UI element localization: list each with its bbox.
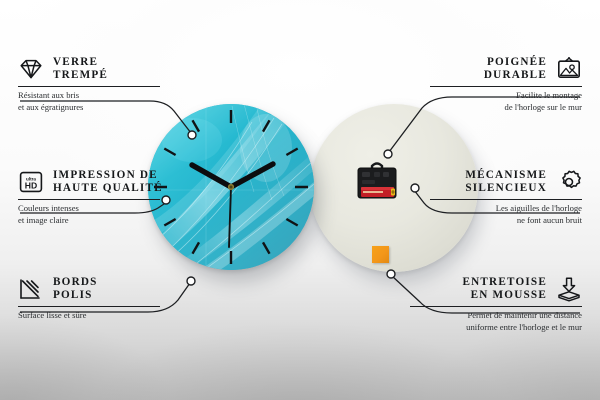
feature-rule — [430, 86, 582, 87]
feature-mecanisme-silencieux[interactable]: MÉCANISME SILENCIEUX Les aiguilles de l'… — [432, 169, 582, 227]
feature-impression-haute-qualite[interactable]: ultra HD IMPRESSION DE HAUTE QUALITÉ Cou… — [18, 169, 158, 227]
feature-rule — [430, 199, 582, 200]
feature-title-line2: EN MOUSSE — [462, 289, 547, 302]
feature-desc-line1: Facilite le montage — [432, 90, 582, 102]
feature-title-line1: BORDS — [53, 276, 98, 289]
feature-poignee-durable[interactable]: POIGNÉE DURABLE Facilite le montage de l… — [432, 56, 582, 114]
feature-rule — [18, 199, 160, 200]
feature-title-line1: POIGNÉE — [484, 56, 547, 69]
feature-title-line1: VERRE — [53, 56, 108, 69]
feature-title-line2: HAUTE QUALITÉ — [53, 182, 163, 195]
feature-desc-line1: Couleurs intenses — [18, 203, 158, 215]
polished-edges-icon — [18, 276, 44, 302]
feature-desc-line2: et aux égratignures — [18, 102, 158, 114]
hotspot-verre-trempe — [188, 131, 196, 139]
feature-title-line1: ENTRETOISE — [462, 276, 547, 289]
feature-title-line1: MÉCANISME — [465, 169, 547, 182]
feature-rule — [18, 86, 160, 87]
product-feature-infographic: VERRE TREMPÉ Résistant aux bris et aux é… — [0, 0, 600, 400]
feature-desc-line1: Permet de maintenir une distance — [412, 310, 582, 322]
hotspot-poignee — [384, 150, 392, 158]
feature-title-line2: SILENCIEUX — [465, 182, 547, 195]
diamond-icon — [18, 56, 44, 82]
feature-desc-line2: uniforme entre l'horloge et le mur — [412, 322, 582, 334]
feature-bords-polis[interactable]: BORDS POLIS Surface lisse et sûre — [18, 276, 158, 322]
feature-title-line2: TREMPÉ — [53, 69, 108, 82]
feature-rule — [410, 306, 582, 307]
picture-hanger-icon — [556, 56, 582, 82]
gear-icon — [556, 169, 582, 195]
feature-desc-line2: de l'horloge sur le mur — [432, 102, 582, 114]
feature-desc-line1: Résistant aux bris — [18, 90, 158, 102]
foam-spacer-icon — [556, 276, 582, 302]
feature-verre-trempe[interactable]: VERRE TREMPÉ Résistant aux bris et aux é… — [18, 56, 158, 114]
hotspot-mecanisme — [411, 184, 419, 192]
feature-title-line2: POLIS — [53, 289, 98, 302]
feature-title-line2: DURABLE — [484, 69, 547, 82]
hotspot-bords-polis — [187, 277, 195, 285]
feature-desc-line2: et image claire — [18, 215, 158, 227]
feature-title-line1: IMPRESSION DE — [53, 169, 163, 182]
hotspot-entretoise — [387, 270, 395, 278]
feature-entretoise-en-mousse[interactable]: ENTRETOISE EN MOUSSE Permet de maintenir… — [412, 276, 582, 334]
feature-desc-line1: Surface lisse et sûre — [18, 310, 158, 322]
feature-desc-line2: ne font aucun bruit — [432, 215, 582, 227]
svg-text:HD: HD — [25, 181, 37, 191]
hotspot-impression — [162, 196, 170, 204]
ultra-hd-icon: ultra HD — [18, 169, 44, 195]
feature-rule — [18, 306, 160, 307]
feature-desc-line1: Les aiguilles de l'horloge — [432, 203, 582, 215]
